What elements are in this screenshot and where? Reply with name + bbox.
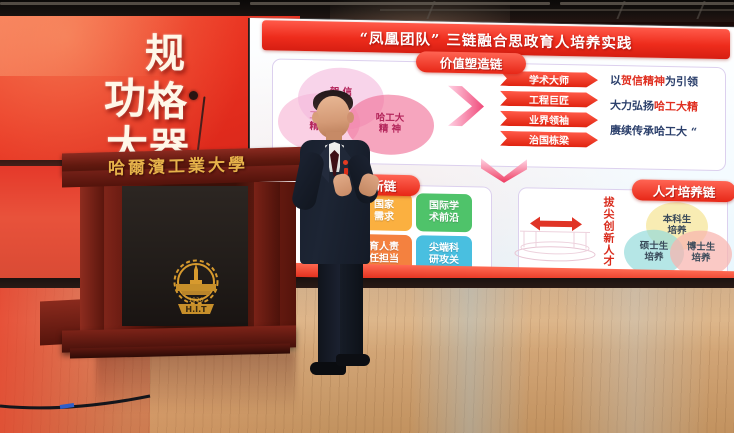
floor-cool-light-b	[560, 288, 710, 433]
floor-cool-light-a	[410, 288, 530, 433]
venn-label-hit-spirit: 哈工大精 神	[376, 113, 405, 135]
podium-university-name: 哈爾濱工業大學	[108, 150, 248, 179]
tag-state-pillar: 治国栋梁	[500, 131, 598, 148]
speaker-right-shoe	[336, 354, 370, 366]
banner-char-2: 功	[104, 78, 146, 120]
grid-cell-intl-frontier: 国际学术前沿	[416, 193, 472, 232]
slide-title: “凤凰团队” 三链融合思政育人培养实践	[360, 27, 633, 53]
down-chevron-icon	[478, 156, 530, 183]
podium-left-column	[80, 182, 104, 334]
ceiling-truss-beam	[250, 2, 550, 5]
photo-scene: 规 功 格 大 器 “凤凰团队” 三链融合思政育人培养实践 工匠精神 贺 信精 …	[0, 0, 734, 433]
floor-cable	[0, 392, 170, 410]
right-chevron-icon	[446, 84, 486, 129]
value-line-2: 大力弘扬哈工大精	[610, 97, 698, 115]
speaker-left-leg	[318, 258, 340, 368]
ceiling-truss-beam	[560, 2, 734, 5]
value-line-1: 以贺信精神为引领	[610, 72, 698, 90]
svg-text:1920: 1920	[188, 297, 203, 304]
talent-vertical-text: 拔尖创新人才	[600, 197, 618, 269]
tag-industry-leader: 业界领袖	[500, 111, 598, 128]
banner-char-1: 规	[145, 34, 185, 74]
double-arrow-icon	[528, 215, 584, 232]
speaker-left-ear	[312, 112, 319, 123]
pill-value-chain: 价值塑造链	[416, 51, 526, 74]
podium-right-column	[254, 182, 280, 334]
speaker-right-ear	[347, 112, 354, 123]
banner-char-3: 格	[147, 82, 187, 122]
svg-text:H.I.T: H.I.T	[185, 305, 207, 314]
value-line-3: 赓续传承哈工大 “	[610, 122, 697, 140]
hit-emblem-icon: 1920 H.I.T	[166, 256, 226, 318]
ceiling-truss-beam	[0, 2, 240, 5]
tag-engineering-master: 工程巨匠	[500, 91, 598, 108]
microphone-head	[189, 91, 198, 100]
speaker-right-leg	[340, 258, 363, 362]
ceiling-truss-beam	[380, 9, 734, 11]
pill-talent-chain: 人才培养链	[632, 179, 734, 202]
